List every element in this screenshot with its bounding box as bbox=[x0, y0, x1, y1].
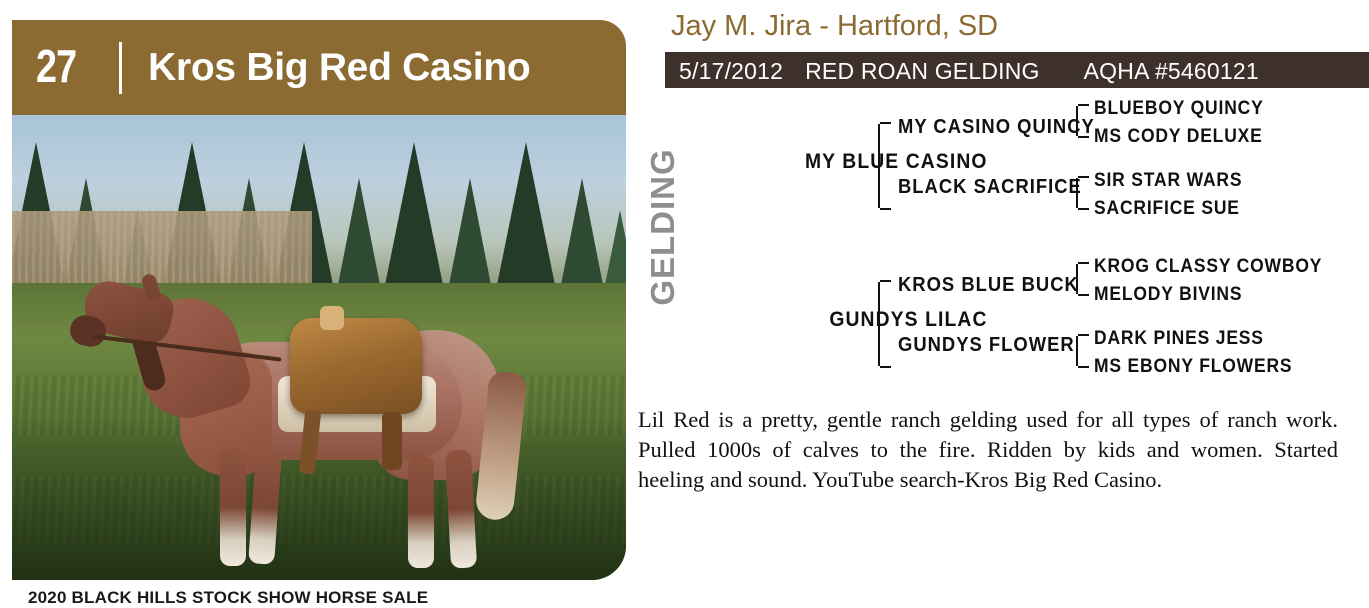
horse-leg bbox=[220, 448, 246, 566]
registration-number: AQHA #5460121 bbox=[1084, 58, 1259, 85]
tree bbox=[337, 178, 381, 290]
pedigree-bracket-dam-dam bbox=[1076, 336, 1078, 366]
pedigree-dam-dam: GUNDYS FLOWER bbox=[898, 334, 1075, 357]
pedigree-dam-sire-dam: MELODY BIVINS bbox=[1094, 284, 1242, 306]
pedigree-sire: MY BLUE CASINO bbox=[746, 150, 987, 174]
pedigree-sire-sire-sire: BLUEBOY QUINCY bbox=[1094, 98, 1264, 120]
pedigree-bracket-sire-dam bbox=[1076, 178, 1078, 208]
tree bbox=[604, 210, 626, 290]
tree bbox=[448, 178, 492, 290]
western-saddle bbox=[290, 318, 422, 414]
horse-photo bbox=[12, 115, 626, 580]
horse-info-bar: 5/17/2012 RED ROAN GELDING AQHA #5460121 bbox=[665, 52, 1369, 91]
lot-number: 27 bbox=[36, 43, 76, 93]
pedigree-dam-sire-sire: KROG CLASSY COWBOY bbox=[1094, 256, 1322, 278]
horse-description: Lil Red is a pretty, gentle ranch geldin… bbox=[638, 405, 1338, 495]
pedigree-sire-sire-dam: MS CODY DELUXE bbox=[1094, 126, 1263, 148]
pedigree-bracket-dam bbox=[878, 282, 880, 366]
tree bbox=[384, 142, 444, 290]
horse-photo-image bbox=[12, 115, 626, 580]
foal-date: 5/17/2012 bbox=[679, 58, 783, 85]
pedigree-bracket-sire-sire bbox=[1076, 106, 1078, 136]
catalog-footer: 2020 BLACK HILLS STOCK SHOW HORSE SALE bbox=[28, 588, 428, 608]
pedigree-dam-dam-sire: DARK PINES JESS bbox=[1094, 328, 1264, 350]
pedigree-panel: GELDING MY BLUE CASINO MY CASINO QUINCY … bbox=[626, 88, 1369, 388]
photo-treeline bbox=[12, 115, 626, 290]
color-and-sex: RED ROAN GELDING bbox=[805, 58, 1040, 85]
lot-right-column: Jay M. Jira - Hartford, SD 5/17/2012 RED… bbox=[626, 0, 1369, 600]
pedigree-bracket-dam-sire bbox=[1076, 264, 1078, 294]
title-divider bbox=[119, 42, 122, 94]
pedigree-sire-dam-dam: SACRIFICE SUE bbox=[1094, 198, 1240, 220]
horse-figure bbox=[52, 280, 522, 580]
tree bbox=[496, 142, 556, 290]
pedigree-bracket-sire bbox=[878, 124, 880, 208]
pedigree-sire-sire: MY CASINO QUINCY bbox=[898, 116, 1095, 139]
saddle-horn bbox=[320, 306, 344, 330]
pedigree-sire-dam: BLACK SACRIFICE bbox=[898, 176, 1082, 199]
pedigree-dam-dam-dam: MS EBONY FLOWERS bbox=[1094, 356, 1292, 378]
photo-brush bbox=[12, 211, 312, 289]
pedigree-sire-dam-sire: SIR STAR WARS bbox=[1094, 170, 1242, 192]
consignor-name: Jay M. Jira - Hartford, SD bbox=[671, 10, 998, 43]
lot-title-bar: 27 Kros Big Red Casino bbox=[12, 20, 626, 115]
sex-label: GELDING bbox=[644, 132, 682, 322]
tree bbox=[560, 178, 604, 290]
lot-left-column: 27 Kros Big Red Casino bbox=[12, 20, 626, 580]
horse-leg bbox=[408, 456, 434, 568]
pedigree-dam-sire: KROS BLUE BUCK bbox=[898, 274, 1079, 297]
pedigree-dam: GUNDYS LILAC bbox=[746, 308, 987, 332]
horse-name: Kros Big Red Casino bbox=[148, 46, 530, 90]
saddle-stirrup bbox=[382, 412, 402, 470]
